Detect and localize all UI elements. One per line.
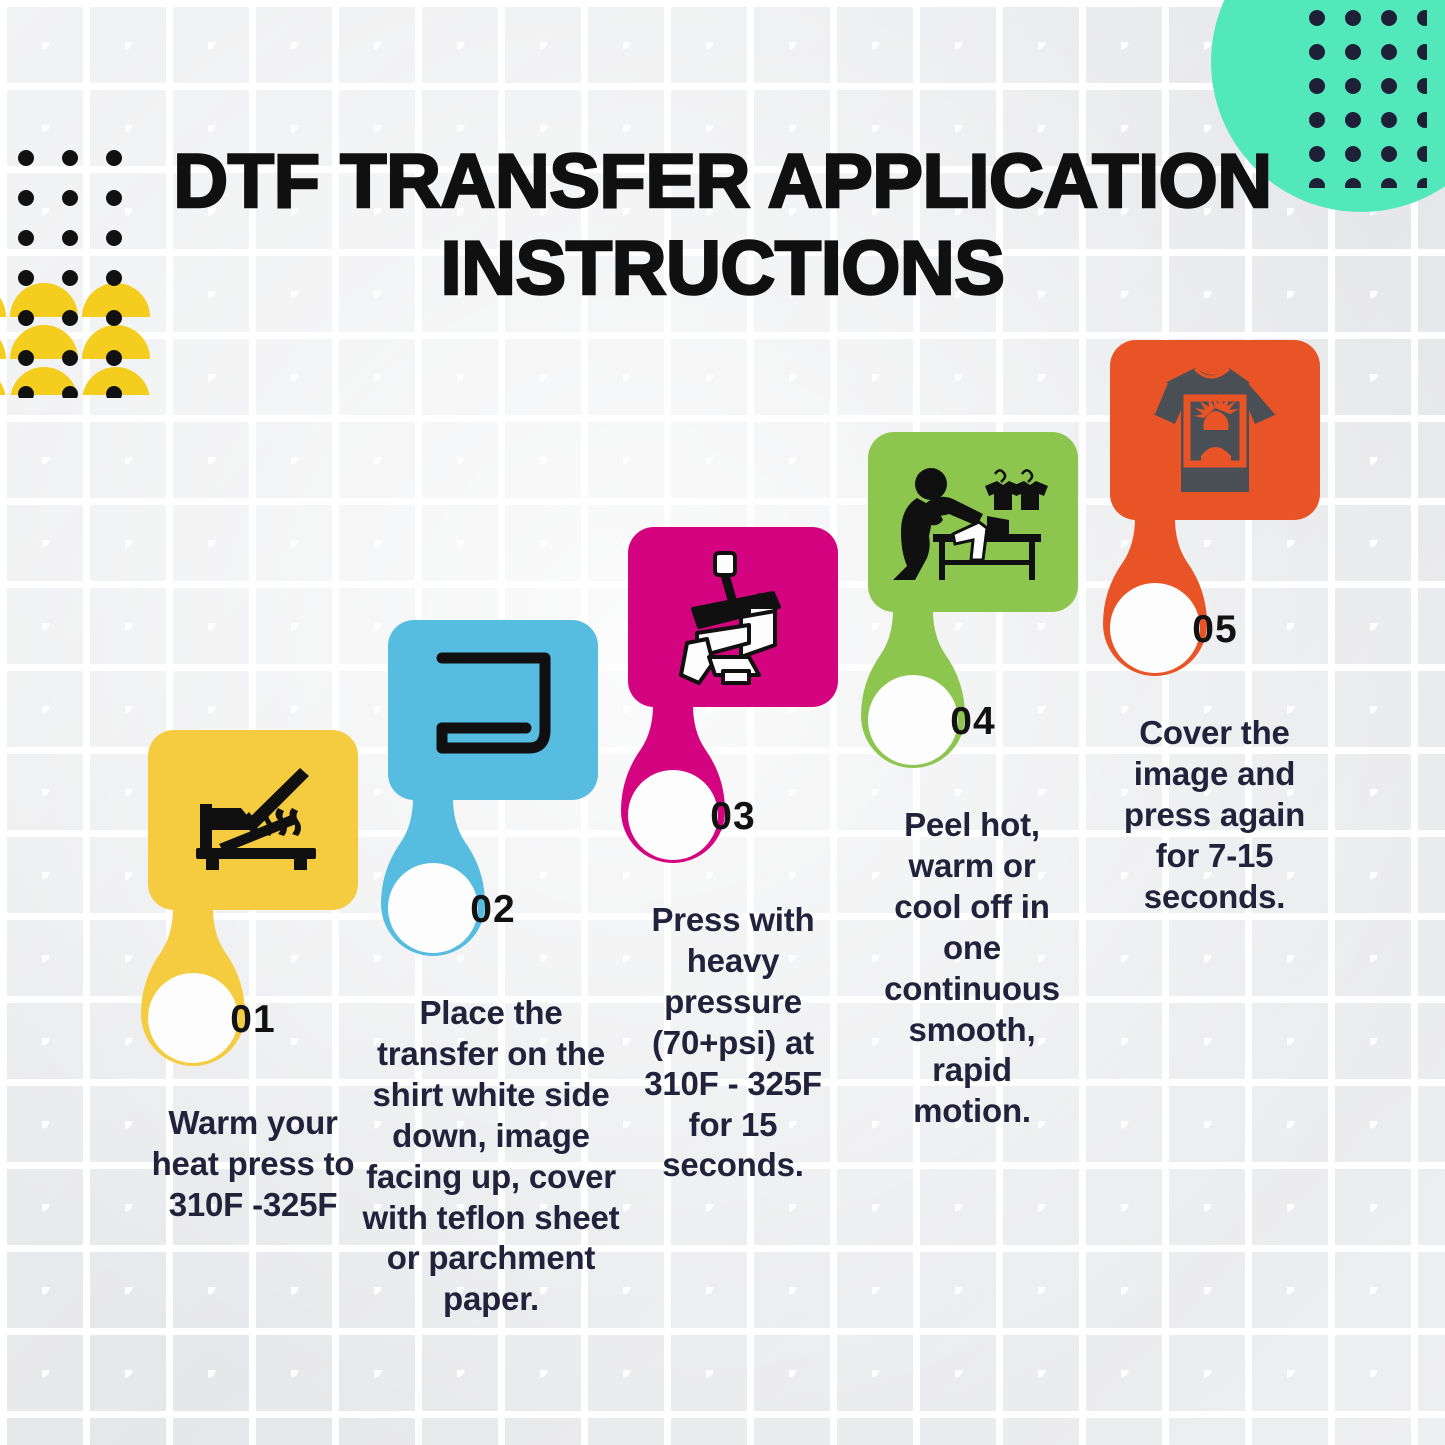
step-04-description: Peel hot, warm or cool off in one contin… [872,805,1072,1132]
step-03-number: 03 [608,795,858,839]
step-03-connector: 03 [608,705,858,886]
step-04-connector: 04 [848,610,1098,791]
step-03: 03 Press with heavy pressure (70+psi) at… [608,527,858,1186]
step-05: 05 Cover the image and press again for 7… [1090,340,1340,918]
infographic-poster: DTF TRANSFER APPLICATION INSTRUCTIONS [0,0,1445,1445]
step-01-icon-card [148,730,358,910]
step-02-icon-card [388,620,598,800]
worker-peeling-icon [891,460,1056,585]
step-02-connector: 02 [368,798,618,979]
page-title-line-2: INSTRUCTIONS [0,225,1445,312]
step-03-icon-card [628,527,838,707]
step-05-number: 05 [1090,608,1340,652]
step-03-description: Press with heavy pressure (70+psi) at 31… [622,900,844,1186]
step-05-connector: 05 [1090,518,1340,699]
step-02-description: Place the transfer on the shirt white si… [362,993,620,1320]
step-05-icon-card [1110,340,1320,520]
step-04-icon-card [868,432,1078,612]
heat-press-open-icon [178,760,328,880]
step-02: 02 Place the transfer on the shirt white… [368,620,618,1320]
step-01: 01 Warm your heat press to 310F -325F [128,730,378,1226]
step-01-description: Warm your heat press to 310F -325F [146,1103,361,1226]
step-01-connector: 01 [128,908,378,1089]
transfer-sheet-icon [426,648,561,773]
heat-press-pressing-icon [663,547,803,687]
step-02-number: 02 [368,888,618,932]
page-title-line-1: DTF TRANSFER APPLICATION [173,139,1271,224]
step-04: 04 Peel hot, warm or cool off in one con… [848,432,1098,1132]
printed-tshirt-icon [1145,360,1285,500]
step-04-number: 04 [848,700,1098,744]
step-05-description: Cover the image and press again for 7-15… [1112,713,1317,918]
step-01-number: 01 [128,998,378,1042]
page-title: DTF TRANSFER APPLICATION INSTRUCTIONS [0,138,1445,313]
